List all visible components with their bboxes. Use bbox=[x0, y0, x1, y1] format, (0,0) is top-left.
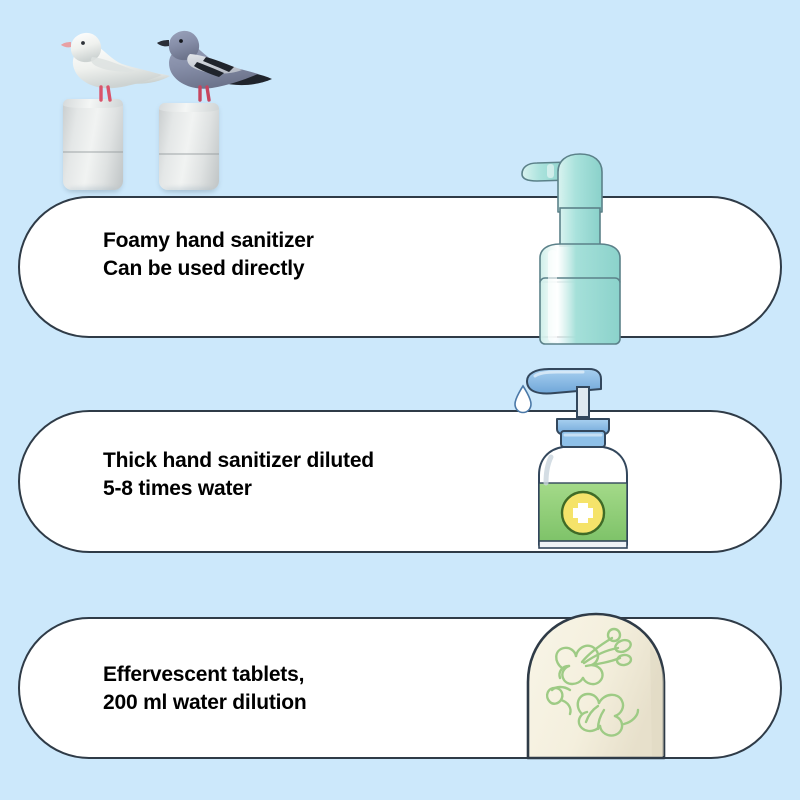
product-infographic: Foamy hand sanitizer Can be used directl… bbox=[0, 0, 800, 800]
row-text-foamy: Foamy hand sanitizer Can be used directl… bbox=[103, 227, 523, 283]
dispenser-right bbox=[159, 103, 219, 190]
gray-pigeon-figurine bbox=[152, 24, 287, 110]
row-text-effervescent: Effervescent tablets, 200 ml water dilut… bbox=[103, 661, 523, 717]
dispenser-left bbox=[63, 99, 123, 190]
row-text-thick: Thick hand sanitizer diluted 5-8 times w… bbox=[103, 447, 543, 503]
pigeon-photo-zone bbox=[0, 0, 800, 196]
